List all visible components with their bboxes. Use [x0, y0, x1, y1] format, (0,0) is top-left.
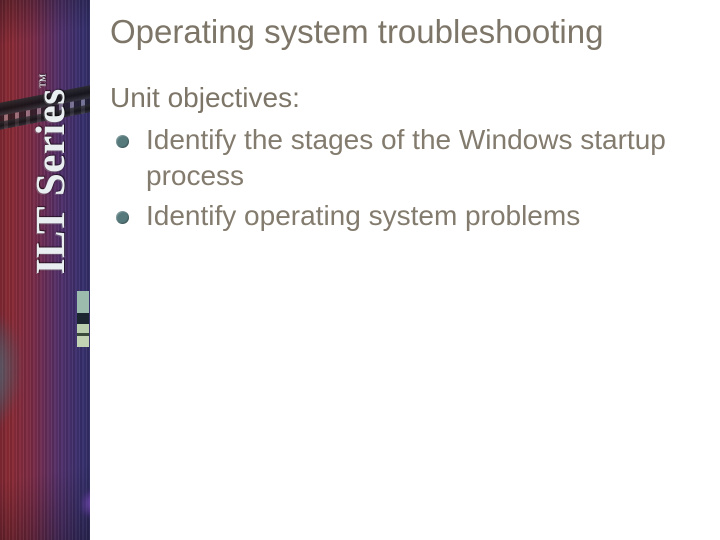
color-chip: [77, 324, 89, 333]
objectives-list: Identify the stages of the Windows start…: [110, 122, 702, 234]
sidebar-decoration: ILT Series™: [0, 0, 90, 540]
decorative-image-band: [0, 0, 90, 540]
list-item-label: Identify operating system problems: [146, 200, 580, 231]
list-item-label: Identify the stages of the Windows start…: [146, 124, 666, 191]
list-item: Identify operating system problems: [110, 198, 702, 234]
sidebar-color-chips: [77, 291, 89, 347]
band-gradient: [0, 0, 90, 540]
band-violet-accent: [80, 484, 90, 521]
band-cyan-accent: [0, 307, 20, 441]
list-item: Identify the stages of the Windows start…: [110, 122, 702, 194]
slide-canvas: ILT Series™ Operating system troubleshoo…: [0, 0, 720, 540]
objectives-heading: Unit objectives:: [110, 80, 702, 116]
color-chip: [77, 336, 89, 347]
slide-title: Operating system troubleshooting: [110, 12, 702, 52]
bullet-icon: [116, 211, 129, 224]
color-chip: [77, 291, 89, 313]
color-chip: [77, 313, 89, 324]
bullet-icon: [116, 135, 129, 148]
slide-body: Unit objectives: Identify the stages of …: [110, 80, 702, 238]
